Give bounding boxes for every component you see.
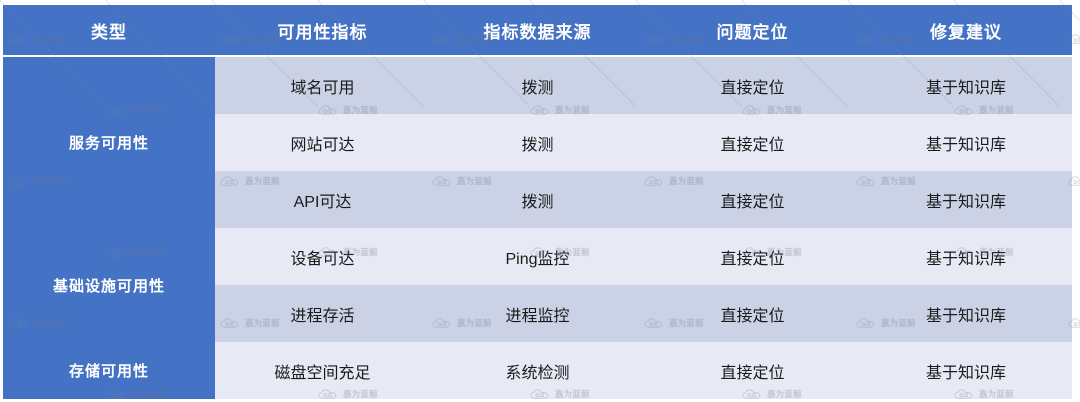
cell-fix: 基于知识库: [860, 171, 1072, 228]
watermark-diagonal-line: [318, 0, 425, 1]
watermark-diagonal-line: [424, 0, 531, 1]
watermark-diagonal-line: [106, 0, 213, 1]
cell-data-source: 拨测: [430, 114, 645, 171]
cell-metric: 网站可达: [215, 114, 430, 171]
watermark-diagonal-line: [742, 0, 849, 1]
cell-fix: 基于知识库: [860, 228, 1072, 285]
watermark-diagonal-line: [212, 0, 319, 1]
cell-fix: 基于知识库: [860, 285, 1072, 342]
watermark-diagonal-line: [0, 0, 107, 1]
watermark-diagonal-line: [636, 0, 743, 1]
cell-locate: 直接定位: [645, 228, 860, 285]
cell-metric: 设备可达: [215, 228, 430, 285]
cell-fix: 基于知识库: [860, 57, 1072, 114]
watermark-diagonal-line: [530, 0, 637, 1]
column-header-fix: 修复建议: [860, 5, 1072, 55]
availability-table: 类型 可用性指标 指标数据来源 问题定位 修复建议 服务可用性 域名可用 拨测 …: [3, 5, 1072, 399]
table-row: 存储可用性 磁盘空间充足 系统检测 直接定位 基于知识库: [3, 342, 1072, 399]
table-header-row: 类型 可用性指标 指标数据来源 问题定位 修复建议: [3, 5, 1072, 55]
watermark-diagonal-line: [954, 0, 1061, 1]
cell-data-source: 进程监控: [430, 285, 645, 342]
cell-metric: 域名可用: [215, 57, 430, 114]
column-header-locate: 问题定位: [645, 5, 860, 55]
cell-locate: 直接定位: [645, 57, 860, 114]
category-cell-storage-availability: 存储可用性: [3, 342, 215, 399]
cell-metric: API可达: [215, 171, 430, 228]
cell-fix: 基于知识库: [860, 342, 1072, 399]
watermark-diagonal-line: [1060, 0, 1080, 1]
table-row: 服务可用性 域名可用 拨测 直接定位 基于知识库: [3, 57, 1072, 114]
cell-locate: 直接定位: [645, 285, 860, 342]
category-cell-infrastructure-availability: 基础设施可用性: [3, 228, 215, 342]
table-body: 服务可用性 域名可用 拨测 直接定位 基于知识库 网站可达 拨测 直接定位 基于…: [3, 55, 1072, 399]
cell-locate: 直接定位: [645, 342, 860, 399]
watermark-diagonal-line: [848, 0, 955, 1]
cell-data-source: 拨测: [430, 57, 645, 114]
table-header: 类型 可用性指标 指标数据来源 问题定位 修复建议: [3, 5, 1072, 55]
cell-data-source: Ping监控: [430, 228, 645, 285]
table-row: 基础设施可用性 设备可达 Ping监控 直接定位 基于知识库: [3, 228, 1072, 285]
cell-metric: 磁盘空间充足: [215, 342, 430, 399]
category-cell-service-availability: 服务可用性: [3, 57, 215, 228]
cell-data-source: 拨测: [430, 171, 645, 228]
availability-table-container: 类型 可用性指标 指标数据来源 问题定位 修复建议 服务可用性 域名可用 拨测 …: [3, 5, 1072, 399]
watermark-diagonal-line: [0, 0, 1, 1]
column-header-metric: 可用性指标: [215, 5, 430, 55]
column-header-data-source: 指标数据来源: [430, 5, 645, 55]
cell-locate: 直接定位: [645, 171, 860, 228]
column-header-type: 类型: [3, 5, 215, 55]
cell-fix: 基于知识库: [860, 114, 1072, 171]
cell-data-source: 系统检测: [430, 342, 645, 399]
cell-metric: 进程存活: [215, 285, 430, 342]
cell-locate: 直接定位: [645, 114, 860, 171]
